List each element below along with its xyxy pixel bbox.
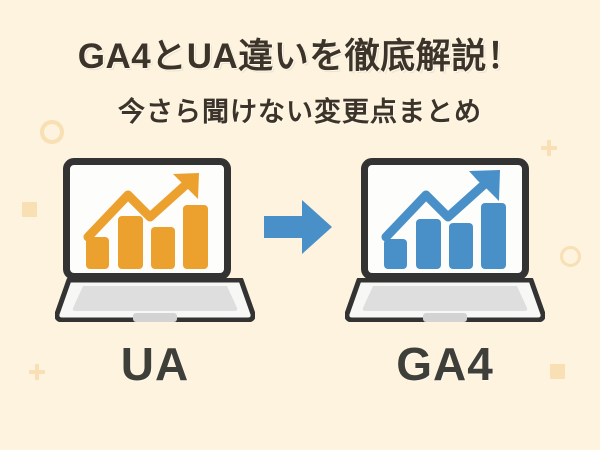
chart-ua bbox=[70, 165, 224, 273]
decor-plus-bottom-left bbox=[29, 364, 45, 380]
chart-ga4-bar-1 bbox=[384, 239, 407, 269]
poster-canvas: GA4とUA違いを徹底解説！ 今さら聞けない変更点まとめ bbox=[0, 0, 600, 450]
laptop-ua-base bbox=[55, 278, 255, 322]
laptop-ua bbox=[55, 158, 255, 323]
laptop-ua-label: UA bbox=[55, 337, 255, 391]
page-subtitle-text: 今さら聞けない変更点まとめ bbox=[0, 98, 600, 128]
chart-ua-bar-4 bbox=[183, 205, 208, 269]
chart-ga4 bbox=[368, 165, 522, 273]
chart-ga4-bar-3 bbox=[449, 223, 473, 269]
laptop-ga4 bbox=[345, 158, 545, 323]
right-arrow-icon bbox=[262, 196, 334, 258]
laptop-ga4-base-shape bbox=[345, 278, 545, 322]
page-subtitle: 今さら聞けない変更点まとめ bbox=[0, 98, 600, 128]
decor-ring-right bbox=[560, 246, 581, 267]
laptop-ga4-base bbox=[345, 278, 545, 322]
page-title-text: GA4とUA違いを徹底解説！ bbox=[0, 38, 600, 77]
page-title: GA4とUA違いを徹底解説！ bbox=[0, 38, 600, 77]
laptop-ua-base-shape bbox=[55, 278, 255, 322]
laptop-ua-screen bbox=[63, 158, 231, 280]
chart-ua-bar-2 bbox=[118, 216, 143, 269]
chart-ga4-bar-2 bbox=[416, 219, 441, 269]
decor-square-left bbox=[22, 202, 37, 217]
chart-ua-bar-3 bbox=[151, 227, 175, 269]
decor-plus-top-right bbox=[541, 140, 557, 156]
chart-ua-bar-1 bbox=[86, 237, 109, 269]
decor-square-bottom-right bbox=[550, 364, 565, 379]
chart-ga4-bar-4 bbox=[481, 203, 506, 269]
laptop-ga4-screen bbox=[361, 158, 529, 280]
laptop-ga4-label: GA4 bbox=[345, 337, 545, 391]
